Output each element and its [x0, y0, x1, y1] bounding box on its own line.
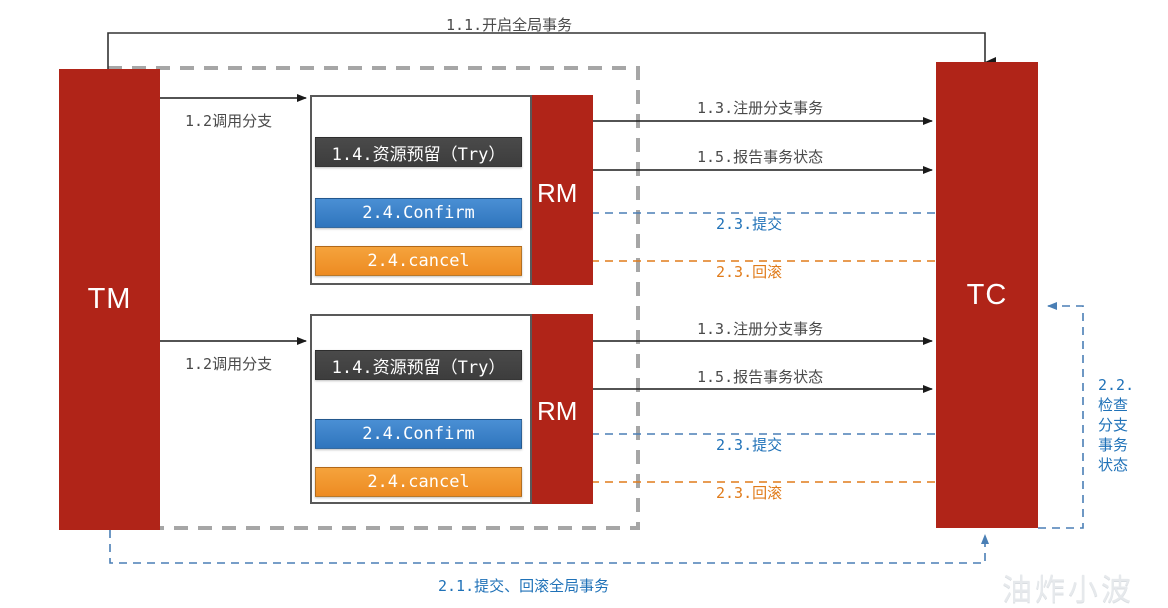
label-invoke-branch-bottom: 1.2调用分支: [185, 353, 272, 374]
label-check-branch-status-line-1: 检查: [1098, 395, 1138, 415]
actor-tm-label: TM: [88, 283, 132, 316]
arrow-global-begin: [108, 33, 985, 69]
arrow-global-commit-rollback: [110, 530, 985, 563]
actor-tc-label: TC: [967, 279, 1008, 312]
label-check-branch-status-line-4: 状态: [1098, 455, 1138, 475]
rm-top-bar-confirm[interactable]: 2.4.Confirm: [315, 198, 522, 228]
actor-tm[interactable]: TM: [59, 69, 160, 530]
label-rollback-bottom: 2.3.回滚: [716, 482, 782, 503]
label-rollback-top: 2.3.回滚: [716, 261, 782, 282]
label-invoke-branch-top: 1.2调用分支: [185, 110, 272, 131]
label-check-branch-status: 2.2. 检查 分支 事务 状态: [1098, 375, 1138, 475]
label-check-branch-status-line-2: 分支: [1098, 415, 1138, 435]
actor-rm-top-label: RM: [537, 178, 577, 209]
watermark: 油炸小波: [1002, 565, 1134, 608]
label-commit-bottom: 2.3.提交: [716, 434, 782, 455]
rm-top-bar-try[interactable]: 1.4.资源预留（Try）: [315, 137, 522, 167]
label-report-status-bottom: 1.5.报告事务状态: [697, 366, 823, 387]
diagram-canvas: TM TC RM 1.4.资源预留（Try） 2.4.Confirm 2.4.c…: [0, 0, 1168, 608]
arrow-check-branch-status: [1038, 306, 1083, 528]
actor-tc[interactable]: TC: [936, 62, 1038, 528]
label-register-branch-top: 1.3.注册分支事务: [697, 97, 823, 118]
label-commit-top: 2.3.提交: [716, 213, 782, 234]
label-check-branch-status-line-3: 事务: [1098, 435, 1138, 455]
label-global-commit-rollback: 2.1.提交、回滚全局事务: [438, 575, 609, 596]
rm-bottom-bar-cancel[interactable]: 2.4.cancel: [315, 467, 522, 497]
label-report-status-top: 1.5.报告事务状态: [697, 146, 823, 167]
label-check-branch-status-line-0: 2.2.: [1098, 375, 1138, 395]
actor-rm-bottom-label: RM: [537, 396, 577, 427]
label-register-branch-bottom: 1.3.注册分支事务: [697, 318, 823, 339]
rm-bottom-bar-confirm[interactable]: 2.4.Confirm: [315, 419, 522, 449]
rm-bottom-bar-try[interactable]: 1.4.资源预留（Try）: [315, 350, 522, 380]
rm-top-bar-cancel[interactable]: 2.4.cancel: [315, 246, 522, 276]
label-global-begin: 1.1.开启全局事务: [446, 14, 572, 35]
